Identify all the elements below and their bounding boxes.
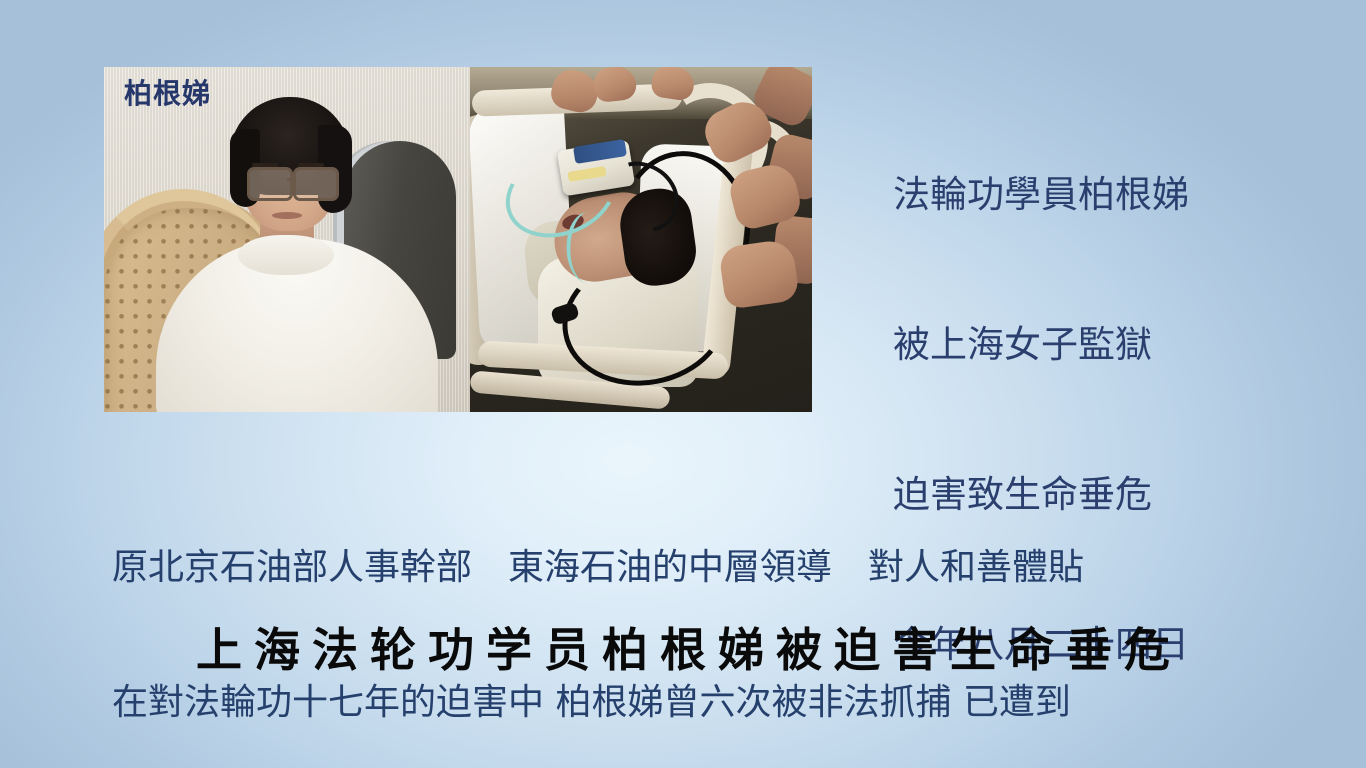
portrait-caption-label: 柏根娣 — [124, 80, 211, 108]
portrait-glasses-right-lens — [293, 167, 339, 201]
side-text-line-1: 法輪功學員柏根娣 — [893, 170, 1293, 220]
hospital-bed-photo — [470, 67, 812, 412]
headline-title: 上海法轮功学员柏根娣被迫害生命垂危 — [0, 620, 1366, 680]
portrait-glasses-bridge — [287, 178, 293, 181]
body-text-line-2: 在對法輪功十七年的迫害中 柏根娣曾六次被非法抓捕 已遭到 — [112, 680, 1262, 725]
body-text-line-1: 原北京石油部人事幹部 東海石油的中層領導 對人和善體貼 — [112, 545, 1262, 590]
portrait-glasses-left-lens — [247, 167, 293, 201]
portrait-photo — [104, 67, 470, 412]
body-text-block: 原北京石油部人事幹部 東海石油的中層領導 對人和善體貼 在對法輪功十七年的迫害中… — [112, 455, 1262, 768]
hospital-hand-lower-right — [718, 238, 800, 310]
side-text-line-2: 被上海女子監獄 — [893, 320, 1293, 370]
portrait-mouth — [272, 212, 302, 219]
slide-canvas: 柏根娣 法輪功學員 — [0, 0, 1366, 768]
portrait-turtleneck-collar — [238, 235, 334, 275]
